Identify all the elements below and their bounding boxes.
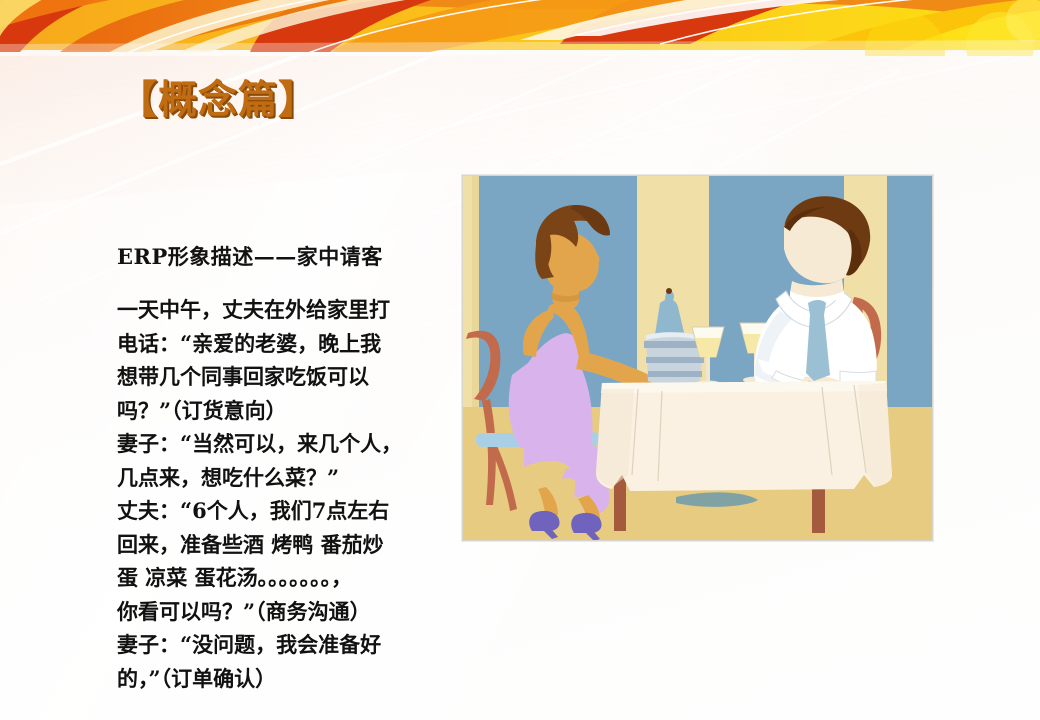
story-line: 一天中午，丈夫在外给家里打: [117, 293, 447, 327]
slide-canvas: 【概念篇】 ERP形象描述——家中请客 一天中午，丈夫在外给家里打 电话：“亲爱…: [0, 0, 1040, 720]
story-line: 吗？”（订货意向）: [117, 394, 447, 428]
page-title: 【概念篇】: [118, 80, 318, 121]
story-line: 蛋 凉菜 蛋花汤。。。。。。。，: [117, 561, 447, 595]
story-line: 的，”（订单确认）: [117, 662, 447, 696]
top-decorative-banner: [0, 0, 1040, 56]
text-column: ERP形象描述——家中请客 一天中午，丈夫在外给家里打 电话：“亲爱的老婆，晚上…: [117, 243, 447, 695]
couple-dining-illustration: [462, 175, 933, 541]
story-paragraph: 一天中午，丈夫在外给家里打 电话：“亲爱的老婆，晚上我 想带几个同事回家吃饭可以…: [117, 293, 447, 695]
story-line: 丈夫：“6个人，我们7点左右: [117, 494, 447, 528]
story-line: 想带几个同事回家吃饭可以: [117, 360, 447, 394]
section-heading: ERP形象描述——家中请客: [117, 243, 447, 271]
story-line: 几点来，想吃什么菜？”: [117, 461, 447, 495]
story-line: 电话：“亲爱的老婆，晚上我: [117, 327, 447, 361]
story-line: 妻子：“没问题，我会准备好: [117, 628, 447, 662]
story-line: 妻子：“当然可以，来几个人，: [117, 427, 447, 461]
story-line: 你看可以吗？”（商务沟通）: [117, 595, 447, 629]
story-line: 回来，准备些酒 烤鸭 番茄炒: [117, 528, 447, 562]
